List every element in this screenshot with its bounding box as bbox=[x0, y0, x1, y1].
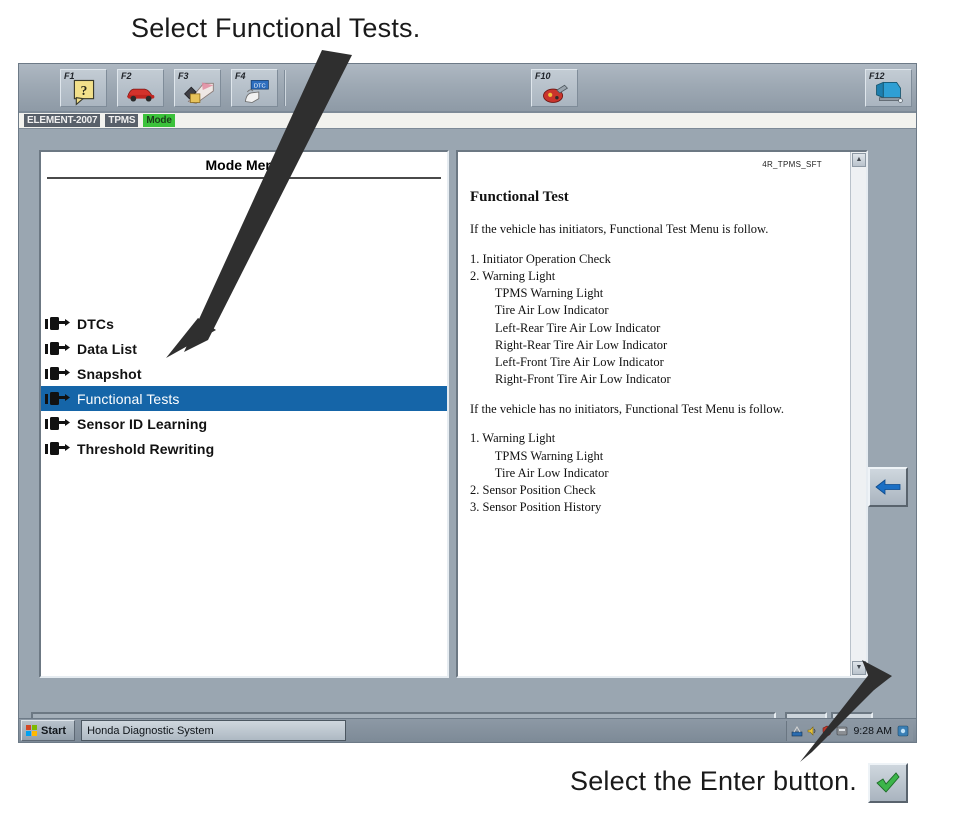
pointer-hand-icon bbox=[45, 366, 71, 382]
windows-taskbar: Start Honda Diagnostic System 9:28 AM bbox=[18, 718, 917, 743]
svg-text:?: ? bbox=[81, 83, 88, 98]
toolbar-key-f12: F12 bbox=[869, 71, 885, 81]
toolbar-key-f2: F2 bbox=[121, 71, 132, 81]
help-document-content: 4R_TPMS_SFT Functional Test If the vehic… bbox=[458, 152, 850, 676]
annotation-bottom-text: Select the Enter button. bbox=[570, 766, 857, 797]
document-intro-no-initiators: If the vehicle has no initiators, Functi… bbox=[470, 402, 840, 418]
mode-menu-item-functional-tests[interactable]: Functional Tests bbox=[41, 386, 447, 411]
pointer-hand-icon bbox=[45, 341, 71, 357]
pointer-hand-icon bbox=[45, 441, 71, 457]
window-body: Mode Menu DTCs bbox=[19, 129, 916, 735]
system-tray: 9:28 AM bbox=[786, 721, 913, 741]
toolbar-key-f4: F4 bbox=[235, 71, 246, 81]
annotation-top-text: Select Functional Tests. bbox=[131, 13, 420, 44]
scroll-down-icon[interactable]: ▼ bbox=[852, 661, 866, 675]
toolbar: F1 ? F2 F3 bbox=[19, 64, 916, 112]
tray-shield-icon[interactable] bbox=[821, 725, 833, 737]
tray-app-icon[interactable] bbox=[836, 725, 848, 737]
tray-clock[interactable]: 9:28 AM bbox=[851, 725, 894, 737]
toolbar-button-f1[interactable]: F1 ? bbox=[60, 69, 107, 107]
mode-menu-panel: Mode Menu DTCs bbox=[39, 150, 449, 678]
mode-menu-item-dtcs[interactable]: DTCs bbox=[41, 311, 447, 336]
tray-volume-icon[interactable] bbox=[806, 725, 818, 737]
toolbar-key-f3: F3 bbox=[178, 71, 189, 81]
mode-menu-title: Mode Menu bbox=[41, 152, 447, 177]
mode-menu-item-label: Sensor ID Learning bbox=[75, 416, 207, 432]
mode-menu-item-label: Threshold Rewriting bbox=[75, 441, 214, 457]
document-list-line: Right-Rear Tire Air Low Indicator bbox=[470, 337, 840, 354]
document-list-line: TPMS Warning Light bbox=[470, 285, 840, 302]
scroll-up-icon[interactable]: ▲ bbox=[852, 153, 866, 167]
mode-menu-item-snapshot[interactable]: Snapshot bbox=[41, 361, 447, 386]
help-document-panel: 4R_TPMS_SFT Functional Test If the vehic… bbox=[456, 150, 868, 678]
document-list-line: 2. Warning Light bbox=[470, 268, 840, 285]
toolbar-key-f1: F1 bbox=[64, 71, 75, 81]
back-button[interactable] bbox=[868, 467, 908, 507]
svg-text:DTC: DTC bbox=[254, 84, 266, 90]
checkmark-icon bbox=[875, 772, 901, 794]
application-window: F1 ? F2 F3 bbox=[18, 63, 917, 743]
mode-menu-item-label: Snapshot bbox=[75, 366, 142, 382]
breadcrumb-item-vehicle[interactable]: ELEMENT-2007 bbox=[24, 114, 100, 127]
mode-menu-item-label: Data List bbox=[75, 341, 137, 357]
windows-logo-icon bbox=[26, 725, 37, 736]
toolbar-button-f2[interactable]: F2 bbox=[117, 69, 164, 107]
document-list-line: 1. Initiator Operation Check bbox=[470, 251, 840, 268]
pointer-hand-icon bbox=[45, 416, 71, 432]
pointer-hand-icon bbox=[45, 316, 71, 332]
toolbar-button-f4[interactable]: F4 DTC bbox=[231, 69, 278, 107]
breadcrumb: ELEMENT-2007 TPMS Mode bbox=[19, 112, 916, 129]
document-list-line: 2. Sensor Position Check bbox=[470, 482, 840, 499]
document-list-line: 3. Sensor Position History bbox=[470, 499, 840, 516]
document-intro-with-initiators: If the vehicle has initiators, Functiona… bbox=[470, 222, 840, 238]
toolbar-key-f10: F10 bbox=[535, 71, 551, 81]
taskbar-item-label: Honda Diagnostic System bbox=[87, 725, 214, 737]
document-list-line: 1. Warning Light bbox=[470, 430, 840, 447]
document-list-line: Tire Air Low Indicator bbox=[470, 302, 840, 319]
tray-network-icon[interactable] bbox=[791, 725, 803, 737]
mode-menu-item-threshold-rewriting[interactable]: Threshold Rewriting bbox=[41, 436, 447, 461]
document-spacer bbox=[470, 389, 840, 402]
screenshot-root: Select Functional Tests. Select the Ente… bbox=[0, 0, 967, 829]
document-scrollbar[interactable]: ▲ ▼ bbox=[850, 152, 866, 676]
tray-status-icon[interactable] bbox=[897, 725, 909, 737]
mode-menu-list: DTCs Data List bbox=[41, 311, 447, 461]
document-list-line: Left-Front Tire Air Low Indicator bbox=[470, 354, 840, 371]
mode-menu-item-data-list[interactable]: Data List bbox=[41, 336, 447, 361]
toolbar-button-f10[interactable]: F10 bbox=[531, 69, 578, 107]
start-button-label: Start bbox=[41, 725, 66, 737]
document-list-line: Left-Rear Tire Air Low Indicator bbox=[470, 320, 840, 337]
document-list-line: Tire Air Low Indicator bbox=[470, 465, 840, 482]
start-button[interactable]: Start bbox=[21, 720, 75, 741]
taskbar-item-honda-diagnostic-system[interactable]: Honda Diagnostic System bbox=[81, 720, 346, 741]
mode-menu-item-label: DTCs bbox=[75, 316, 114, 332]
toolbar-separator bbox=[284, 70, 286, 106]
toolbar-button-f12[interactable]: F12 bbox=[865, 69, 912, 107]
toolbar-button-f3[interactable]: F3 bbox=[174, 69, 221, 107]
document-heading: Functional Test bbox=[470, 189, 840, 206]
left-arrow-icon bbox=[874, 477, 902, 497]
mode-menu-item-label: Functional Tests bbox=[75, 391, 180, 407]
mode-menu-divider bbox=[47, 177, 441, 179]
document-list-line: TPMS Warning Light bbox=[470, 448, 840, 465]
pointer-hand-icon bbox=[45, 391, 71, 407]
document-id-label: 4R_TPMS_SFT bbox=[470, 160, 840, 169]
mode-menu-item-sensor-id-learning[interactable]: Sensor ID Learning bbox=[41, 411, 447, 436]
breadcrumb-item-system[interactable]: TPMS bbox=[105, 114, 138, 127]
breadcrumb-item-mode[interactable]: Mode bbox=[143, 114, 174, 127]
document-list-line: Right-Front Tire Air Low Indicator bbox=[470, 371, 840, 388]
enter-button[interactable] bbox=[868, 763, 908, 803]
